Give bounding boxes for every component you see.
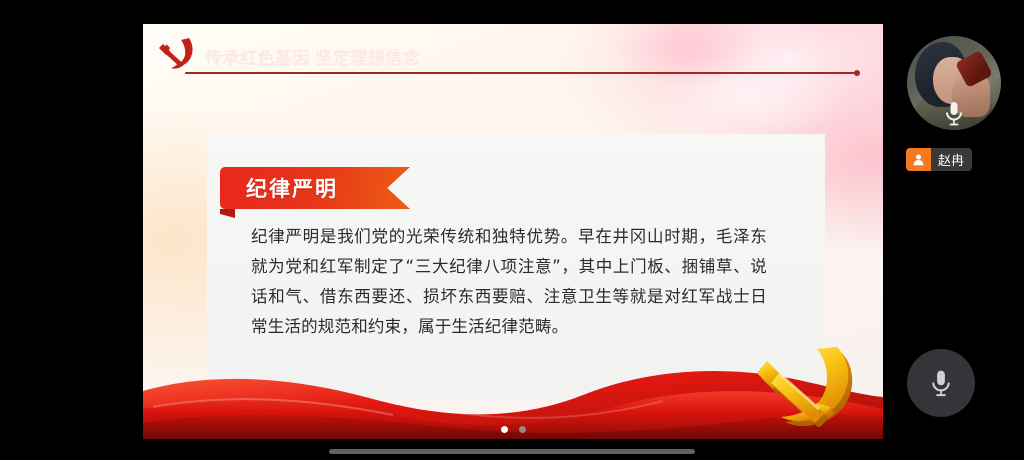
slide-header-title: 传承红色基因 坚定理想信念 xyxy=(205,44,420,69)
microphone-icon xyxy=(928,368,954,399)
slide-body-text: 纪律严明是我们党的光荣传统和独特优势。早在井冈山时期，毛泽东就为党和红军制定了“… xyxy=(251,222,767,342)
section-title: 纪律严明 xyxy=(246,173,338,203)
screen-root: 传承红色基因 坚定理想信念 纪律严明 纪律严明是我们党的光荣传统和独特优势。早在… xyxy=(0,0,1024,460)
microphone-toggle-button[interactable] xyxy=(907,349,975,417)
pagination-dot-1[interactable] xyxy=(501,426,508,433)
participant-panel: 赵冉 xyxy=(884,0,1024,460)
microphone-icon xyxy=(942,100,966,128)
pagination-dots[interactable] xyxy=(143,426,883,433)
section-ribbon: 纪律严明 xyxy=(220,167,410,209)
slide-header: 传承红色基因 坚定理想信念 xyxy=(143,24,883,96)
header-divider xyxy=(185,72,857,74)
participant-video-tile[interactable] xyxy=(907,36,1001,130)
shared-slide[interactable]: 传承红色基因 坚定理想信念 纪律严明 纪律严明是我们党的光荣传统和独特优势。早在… xyxy=(143,24,883,439)
pagination-dot-2[interactable] xyxy=(519,426,526,433)
participant-name-badge: 赵冉 xyxy=(906,148,972,171)
hammer-sickle-gold-icon xyxy=(745,343,875,427)
home-indicator xyxy=(329,449,695,454)
person-icon xyxy=(906,148,931,171)
participant-name: 赵冉 xyxy=(931,148,972,171)
